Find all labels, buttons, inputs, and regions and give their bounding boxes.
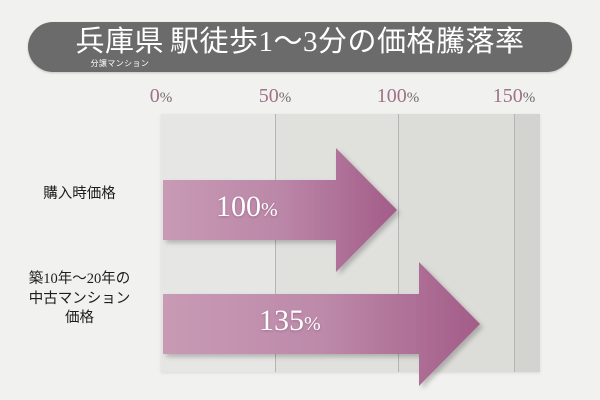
x-tick-2: 100% (377, 86, 420, 106)
x-tick-1-percent: % (279, 90, 292, 106)
bar-value-0-number: 100 (216, 190, 261, 223)
title-main-text: 駅徒歩1〜3分の価格騰落率 (170, 28, 525, 57)
gridline-150 (514, 114, 515, 372)
x-tick-3: 150% (493, 86, 536, 106)
bar-arrow-1: 135% (161, 260, 486, 388)
chart-title-bar: 兵庫県 分譲マンション 駅徒歩1〜3分の価格騰落率 (28, 22, 572, 72)
category-label-1-line-1: 中古マンション (2, 290, 157, 310)
x-tick-2-percent: % (407, 90, 420, 106)
title-prefix: 兵庫県 (75, 28, 164, 57)
category-label-0: 購入時価格 (2, 185, 157, 205)
chart-title-text: 兵庫県 分譲マンション 駅徒歩1〜3分の価格騰落率 (75, 28, 524, 68)
x-tick-3-percent: % (523, 90, 536, 106)
bar-value-0: 100% (216, 192, 278, 222)
bar-value-0-percent: % (261, 199, 278, 221)
bar-arrow-1-shape (161, 260, 486, 388)
x-tick-0-percent: % (160, 90, 173, 106)
x-tick-3-number: 150 (493, 85, 523, 107)
bar-value-1: 135% (259, 306, 321, 336)
category-label-0-line-0: 購入時価格 (2, 185, 157, 205)
chart-canvas: 兵庫県 分譲マンション 駅徒歩1〜3分の価格騰落率 0% 50% 100% 15… (0, 0, 600, 400)
plot-band-3 (514, 114, 540, 372)
x-tick-0-number: 0 (150, 85, 160, 107)
x-tick-0: 0% (150, 86, 173, 106)
bar-arrow-0-shape (161, 146, 401, 274)
category-label-1: 築10年〜20年の 中古マンション 価格 (2, 270, 157, 329)
title-ruby-annotation: 分譲マンション (90, 59, 149, 67)
plot-area: 100% 135% (161, 114, 540, 372)
bar-value-1-number: 135 (259, 304, 304, 337)
category-label-1-line-2: 価格 (2, 309, 157, 329)
category-label-1-line-0: 築10年〜20年の (2, 270, 157, 290)
x-tick-2-number: 100 (377, 85, 407, 107)
x-tick-1-number: 50 (259, 85, 279, 107)
title-prefix-group: 兵庫県 分譲マンション (75, 28, 164, 68)
bar-value-1-percent: % (304, 313, 321, 335)
x-tick-1: 50% (259, 86, 292, 106)
bar-arrow-0: 100% (161, 146, 401, 274)
